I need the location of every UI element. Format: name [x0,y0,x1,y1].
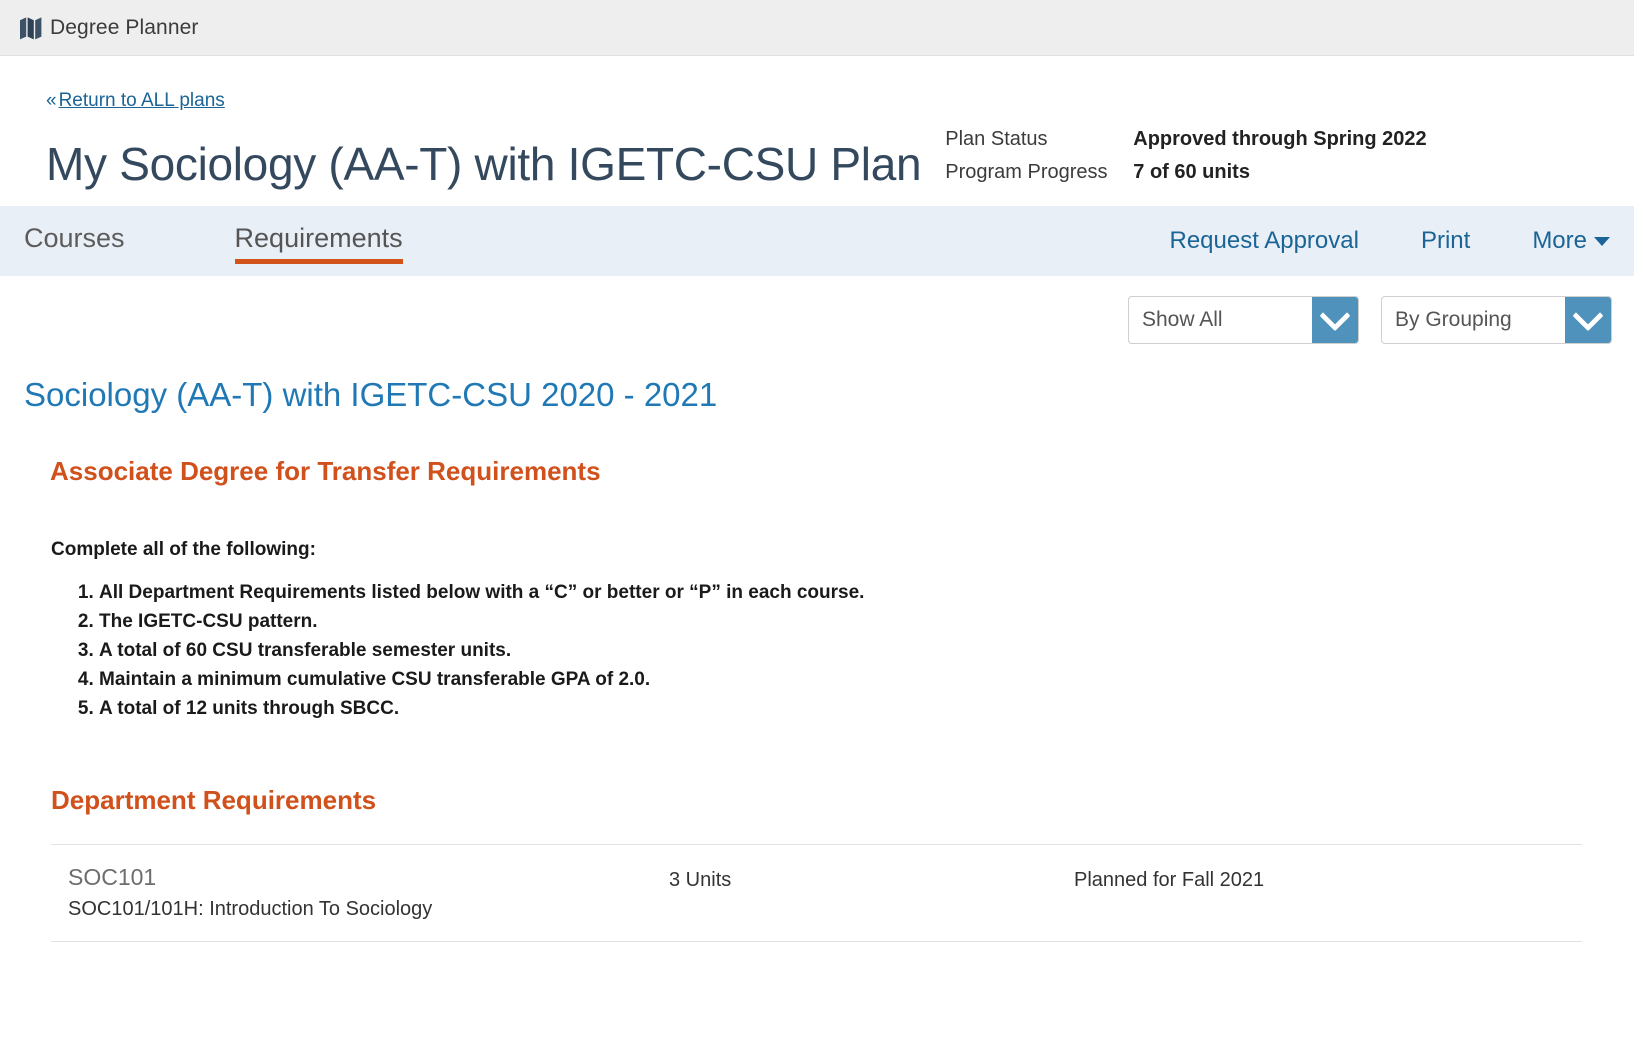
print-button[interactable]: Print [1421,227,1470,255]
breadcrumb: «Return to ALL plans [46,90,1612,112]
requirements-content: Sociology (AA-T) with IGETC-CSU 2020 - 2… [24,376,1612,942]
tab-courses[interactable]: Courses [24,222,125,260]
plan-title-row: My Sociology (AA-T) with IGETC-CSU Plan … [46,128,1588,188]
grouping-dropdown-button[interactable] [1565,297,1611,343]
app-header: Degree Planner [0,0,1634,56]
app-title: Degree Planner [50,16,199,40]
return-to-all-plans-link[interactable]: Return to ALL plans [59,90,225,111]
tab-requirements[interactable]: Requirements [235,222,403,260]
show-all-select[interactable]: Show All [1128,296,1359,344]
list-item: Maintain a minimum cumulative CSU transf… [99,666,1612,695]
adt-requirements-list: All Department Requirements listed below… [24,579,1612,723]
list-item: All Department Requirements listed below… [99,579,1612,608]
plan-status-value: Approved through Spring 2022 [1133,128,1426,151]
list-item: A total of 12 units through SBCC. [99,695,1612,724]
show-all-value: Show All [1129,297,1312,343]
adt-intro-text: Complete all of the following: [51,539,1612,561]
list-item: The IGETC-CSU pattern. [99,608,1612,637]
course-units: 3 Units [669,863,1074,892]
plan-meta: Plan Status Approved through Spring 2022… [945,128,1588,188]
tab-bar: Courses Requirements Request Approval Pr… [0,206,1634,276]
program-progress-label: Program Progress [945,161,1133,184]
more-menu-button[interactable]: More [1532,227,1610,255]
map-icon [18,15,44,41]
adt-requirements-heading: Associate Degree for Transfer Requiremen… [50,456,1612,487]
caret-down-icon [1594,237,1610,246]
plan-status-row: Plan Status Approved through Spring 2022 [945,128,1588,151]
double-chevron-left-icon: « [46,90,57,111]
plan-status-label: Plan Status [945,128,1133,151]
show-all-dropdown-button[interactable] [1312,297,1358,343]
page-body: «Return to ALL plans My Sociology (AA-T)… [0,90,1634,188]
request-approval-label: Request Approval [1169,227,1358,254]
program-progress-row: Program Progress 7 of 60 units [945,161,1588,184]
department-course-table: SOC101 SOC101/101H: Introduction To Soci… [51,844,1582,942]
program-title-link[interactable]: Sociology (AA-T) with IGETC-CSU 2020 - 2… [24,376,1612,414]
tab-list: Courses Requirements [24,222,1107,260]
tab-actions: Request Approval Print More [1107,227,1610,255]
filter-row: Show All By Grouping [0,296,1612,344]
course-term-status: Planned for Fall 2021 [1074,863,1582,892]
chevron-down-icon [1319,300,1350,331]
more-label: More [1532,227,1587,254]
department-requirements-heading: Department Requirements [51,785,1612,816]
chevron-down-icon [1572,300,1603,331]
page-title: My Sociology (AA-T) with IGETC-CSU Plan [46,140,921,188]
grouping-select[interactable]: By Grouping [1381,296,1612,344]
request-approval-button[interactable]: Request Approval [1169,227,1358,255]
course-code: SOC101 [68,863,669,892]
course-main-cell: SOC101 SOC101/101H: Introduction To Soci… [51,863,669,921]
course-name: SOC101/101H: Introduction To Sociology [68,898,669,921]
program-progress-value: 7 of 60 units [1133,161,1250,184]
print-label: Print [1421,227,1470,254]
table-row[interactable]: SOC101 SOC101/101H: Introduction To Soci… [51,845,1582,942]
list-item: A total of 60 CSU transferable semester … [99,637,1612,666]
grouping-value: By Grouping [1382,297,1565,343]
